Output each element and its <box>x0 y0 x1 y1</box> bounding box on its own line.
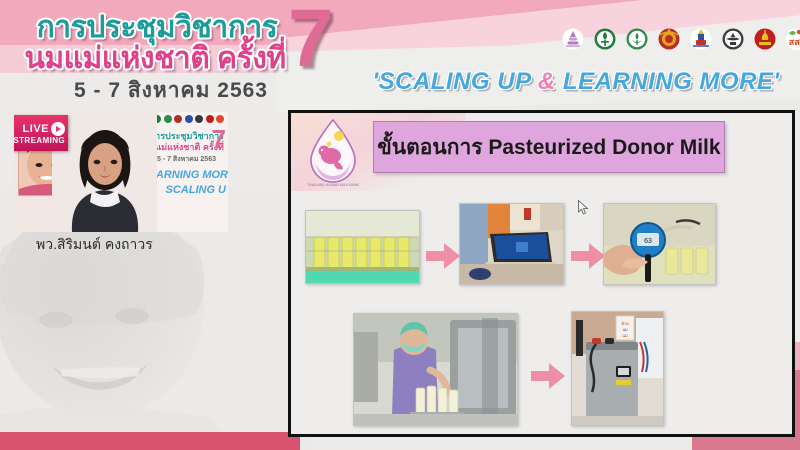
slide-stage: การประชุมวิชาการ นมแม่แห่งชาติ ครั้งที่ … <box>0 0 800 450</box>
video-logo-4 <box>185 115 193 123</box>
live-video-panel[interactable]: การประชุมวิชาการ นมแม่แห่งชาติ ครั้งที่ … <box>14 112 228 232</box>
video-logo-2 <box>164 115 172 123</box>
video-logo-3 <box>174 115 182 123</box>
speaker-name: พว.สิริมนต์ คงถาวร <box>36 234 248 256</box>
sponsor-logo-4 <box>688 28 714 58</box>
video-logo-5 <box>195 115 203 123</box>
process-arrow-3 <box>531 363 565 389</box>
tagline-prefix: 'SCALING UP <box>372 68 538 95</box>
presentation-slide-panel: THAILAND HUMAN MILK BANK ขั้นตอนการ Past… <box>288 110 795 437</box>
conference-tagline: 'SCALING UP & LEARNING MORE' <box>360 68 792 96</box>
live-streaming-badge: LIVE STREAMING <box>14 115 68 151</box>
sponsor-logo-5 <box>720 28 746 58</box>
tagline-ampersand: & <box>538 68 556 95</box>
conference-edition-number: 7 <box>288 0 334 80</box>
logo-caption-text: THAILAND HUMAN MILK BANK <box>307 183 360 187</box>
conference-date: 5 - 7 สิงหาคม 2563 <box>60 74 282 107</box>
milk-bottles-rack-photo <box>305 210 420 284</box>
video-logo-6 <box>206 115 214 123</box>
svg-text:สสส: สสส <box>789 37 800 47</box>
streaming-label: STREAMING <box>14 136 65 145</box>
svg-text:แม่: แม่ <box>622 333 628 338</box>
nurse-loading-pasteurizer-photo <box>353 313 518 426</box>
svg-text:นม: นม <box>622 327 628 332</box>
video-poster-tagline2: SCALING U <box>166 184 227 196</box>
sponsor-logo-3 <box>656 28 682 58</box>
slide-banner-title: ขั้นตอนการ Pasteurized Donor Milk <box>373 121 725 173</box>
video-poster-date: 5 - 7 สิงหาคม 2563 <box>157 154 216 165</box>
video-poster-number: 7 <box>212 126 226 152</box>
process-arrow-1 <box>426 243 460 269</box>
sponsor-logos-row: สสส <box>560 28 800 58</box>
sponsor-logo-7: สสส <box>784 28 800 58</box>
play-icon <box>51 122 65 136</box>
svg-text:63: 63 <box>644 238 652 245</box>
sponsor-logo-6 <box>752 28 778 58</box>
pasteurizer-freezer-machine-photo: ห้าม นม แม่ <box>571 311 664 426</box>
laptop-workstation-photo <box>459 203 564 285</box>
sponsor-logo-2 <box>624 28 650 58</box>
live-badge-top-row: LIVE <box>23 122 65 136</box>
slide-banner-title-text: ขั้นตอนการ Pasteurized Donor Milk <box>377 131 720 164</box>
tagline-suffix: LEARNING MORE' <box>556 68 780 95</box>
svg-text:ห้าม: ห้าม <box>621 321 629 326</box>
bottom-left-pink-strip <box>0 432 300 450</box>
video-logo-7 <box>216 115 224 123</box>
live-label: LIVE <box>23 123 49 135</box>
sponsor-logo-1 <box>592 28 618 58</box>
human-milk-bank-logo: THAILAND HUMAN MILK BANK <box>299 116 367 188</box>
sponsor-logo-0 <box>560 28 586 58</box>
mouse-cursor <box>578 200 589 215</box>
process-arrow-2 <box>571 243 605 269</box>
thermometer-probe-photo: 63 <box>603 203 716 285</box>
